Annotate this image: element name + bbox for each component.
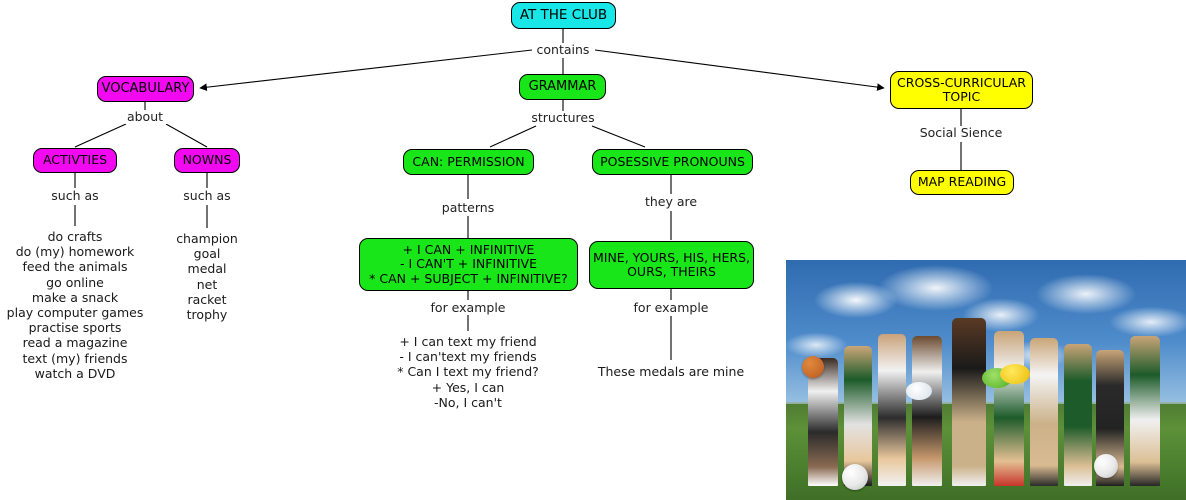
text-pronoun-example: These medals are mine	[591, 364, 751, 379]
link-label-social-science: Social Sience	[911, 126, 1011, 140]
edge-structures-to-pronouns	[592, 126, 645, 147]
photo-basketball	[802, 356, 824, 378]
link-label-such-as-nowns: such as	[177, 189, 237, 203]
node-vocabulary[interactable]: VOCABULARY	[97, 76, 194, 102]
edge-about-to-nowns	[166, 124, 207, 147]
link-label-for-example-pronouns: for example	[631, 301, 711, 315]
link-label-they-are: they are	[641, 195, 701, 209]
photo-soccer-ball	[1094, 454, 1118, 478]
concept-map-canvas: AT THE CLUB VOCABULARY GRAMMAR CROSS-CUR…	[0, 0, 1186, 500]
list-nowns-examples: champion goal medal net racket trophy	[157, 231, 257, 322]
node-map-reading[interactable]: MAP READING	[910, 170, 1014, 195]
link-label-for-example-can: for example	[428, 301, 508, 315]
link-label-about: about	[115, 110, 175, 124]
node-can-patterns[interactable]: + I CAN + INFINITIVE - I CAN'T + INFINIT…	[359, 238, 578, 291]
edge-about-to-activities	[75, 124, 126, 147]
club-athletes-photo	[786, 260, 1186, 500]
photo-soccer-ball	[842, 464, 868, 490]
list-can-examples: + I can text my friend - I can'text my f…	[388, 334, 548, 410]
edge-contains-to-cross-curricular	[595, 50, 884, 88]
edge-structures-to-can	[490, 126, 536, 147]
node-at-the-club[interactable]: AT THE CLUB	[511, 2, 616, 29]
photo-person	[912, 336, 942, 486]
photo-person	[1030, 338, 1058, 486]
link-label-patterns: patterns	[438, 201, 498, 215]
list-activities-examples: do crafts do (my) homework feed the anim…	[0, 229, 155, 381]
photo-person	[1064, 344, 1092, 486]
photo-person	[878, 334, 906, 486]
node-nowns[interactable]: NOWNS	[174, 148, 240, 173]
node-pronoun-list[interactable]: MINE, YOURS, HIS, HERS, OURS, THEIRS	[589, 241, 754, 289]
node-cross-curricular-topic[interactable]: CROSS-CURRICULAR TOPIC	[890, 71, 1033, 109]
link-label-contains: contains	[533, 43, 593, 57]
node-can-permission[interactable]: CAN: PERMISSION	[403, 149, 534, 175]
node-posessive-pronouns[interactable]: POSESSIVE PRONOUNS	[592, 149, 753, 175]
photo-person	[1130, 336, 1160, 486]
photo-person	[952, 318, 986, 486]
edge-contains-to-vocabulary	[200, 50, 532, 88]
link-label-structures: structures	[528, 111, 598, 125]
photo-frisbee-white	[906, 382, 932, 400]
photo-person	[994, 331, 1024, 486]
link-label-such-as-activities: such as	[45, 189, 105, 203]
node-grammar[interactable]: GRAMMAR	[519, 74, 606, 100]
photo-frisbee-yellow	[1000, 364, 1030, 384]
node-activties[interactable]: ACTIVTIES	[33, 148, 117, 173]
